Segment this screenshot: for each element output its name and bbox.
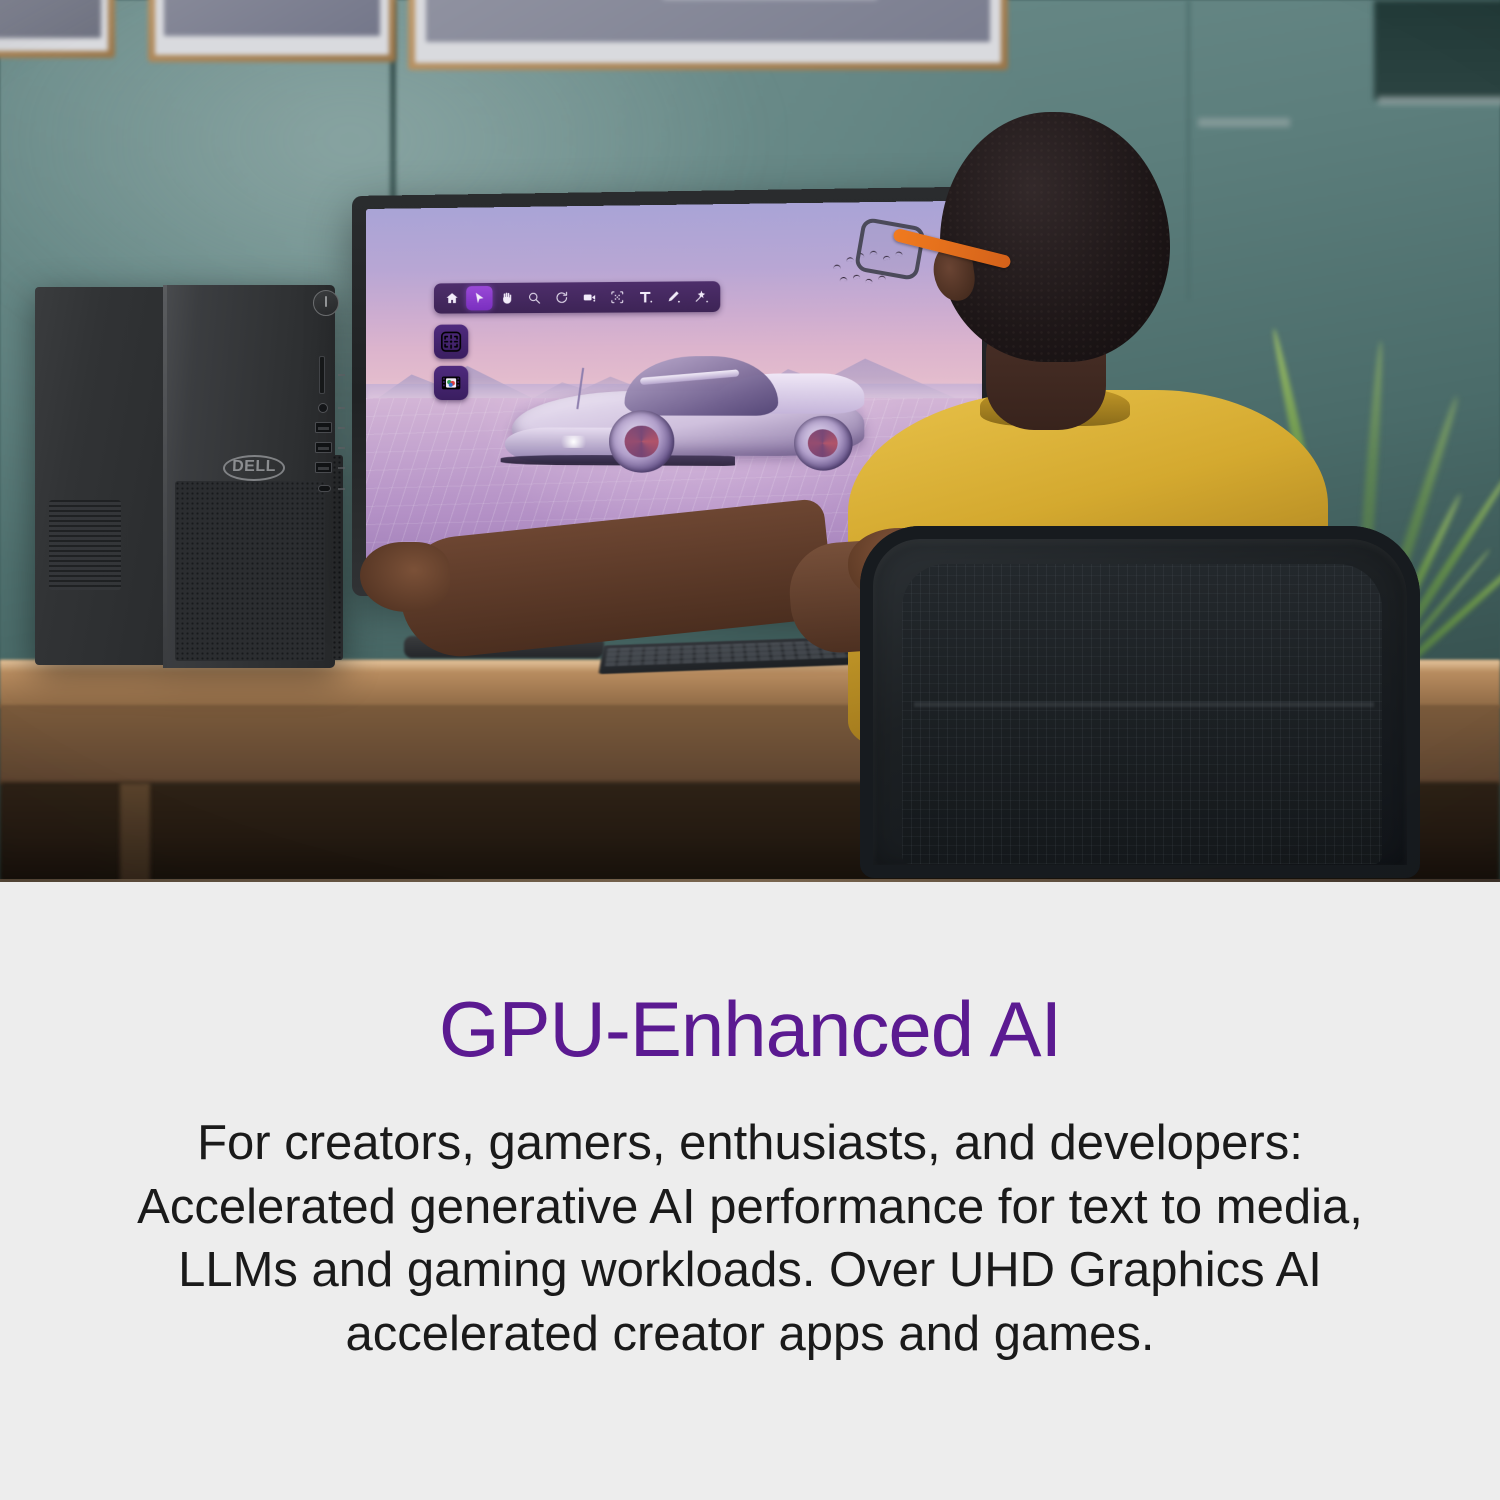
- tower-mesh-grille: [175, 481, 325, 661]
- tower-front-edge: [163, 285, 167, 668]
- usb-port[interactable]: [315, 462, 332, 473]
- headphone-jack[interactable]: [318, 403, 328, 413]
- camera-icon[interactable]: [576, 285, 603, 310]
- port-tick: [338, 427, 345, 429]
- transform-move-icon[interactable]: [434, 325, 468, 359]
- pen-tool-icon[interactable]: [660, 284, 687, 309]
- dell-logo-text: DELL: [232, 458, 276, 476]
- picture-art: [426, 0, 990, 42]
- selection-box-icon[interactable]: [604, 285, 631, 310]
- framed-picture: [148, 0, 396, 62]
- cursor-select-icon[interactable]: [466, 286, 492, 310]
- picture-art: [164, 0, 380, 36]
- dell-desktop-tower: [35, 285, 345, 670]
- wall-shelf-panel: [1374, 0, 1500, 100]
- person-head: [940, 112, 1170, 362]
- picture-art: [0, 0, 101, 38]
- port-tick: [338, 447, 345, 449]
- usb-port[interactable]: [315, 442, 332, 453]
- port-tick: [338, 374, 345, 376]
- office-chair: [830, 520, 1450, 882]
- rotate-icon[interactable]: [549, 285, 576, 310]
- magnifier-zoom-icon[interactable]: [521, 285, 548, 309]
- hair-texture: [940, 112, 1170, 362]
- chair-frame-rim: [860, 526, 1420, 878]
- eyeglasses-rim: [854, 217, 926, 281]
- tower-io-panel: [306, 290, 348, 505]
- usb-port[interactable]: [315, 422, 332, 433]
- usb-c-port[interactable]: [318, 485, 331, 492]
- port-tick: [338, 467, 345, 469]
- hero-photo: DELL: [0, 0, 1500, 882]
- tower-side-panel: [35, 287, 165, 665]
- framed-picture: [408, 0, 1008, 70]
- feature-text-panel: GPU-Enhanced AI For creators, gamers, en…: [0, 882, 1500, 1500]
- app-toolbar[interactable]: [434, 281, 720, 313]
- hand-pan-icon[interactable]: [494, 285, 520, 309]
- product-feature-card: DELL: [0, 0, 1500, 1500]
- tower-side-vent: [49, 500, 121, 590]
- desk-leg: [120, 783, 150, 882]
- text-tool-icon[interactable]: [632, 284, 659, 309]
- power-button[interactable]: [313, 290, 339, 316]
- magic-wand-icon[interactable]: [688, 284, 715, 309]
- feature-description: For creators, gamers, enthusiasts, and d…: [85, 1112, 1415, 1367]
- port-tick: [338, 407, 345, 409]
- car-headlight-glint: [557, 435, 591, 448]
- feature-heading: GPU-Enhanced AI: [439, 990, 1061, 1068]
- person-left-hand: [360, 542, 450, 612]
- app-side-panel[interactable]: [434, 325, 468, 401]
- home-icon[interactable]: [439, 286, 465, 310]
- sd-card-slot[interactable]: [319, 356, 325, 394]
- wall-shelf-ledge: [1378, 96, 1500, 105]
- framed-picture: [0, 0, 115, 58]
- car-front-wheel: [609, 410, 674, 472]
- media-film-icon[interactable]: [434, 366, 468, 400]
- port-tick: [338, 488, 345, 490]
